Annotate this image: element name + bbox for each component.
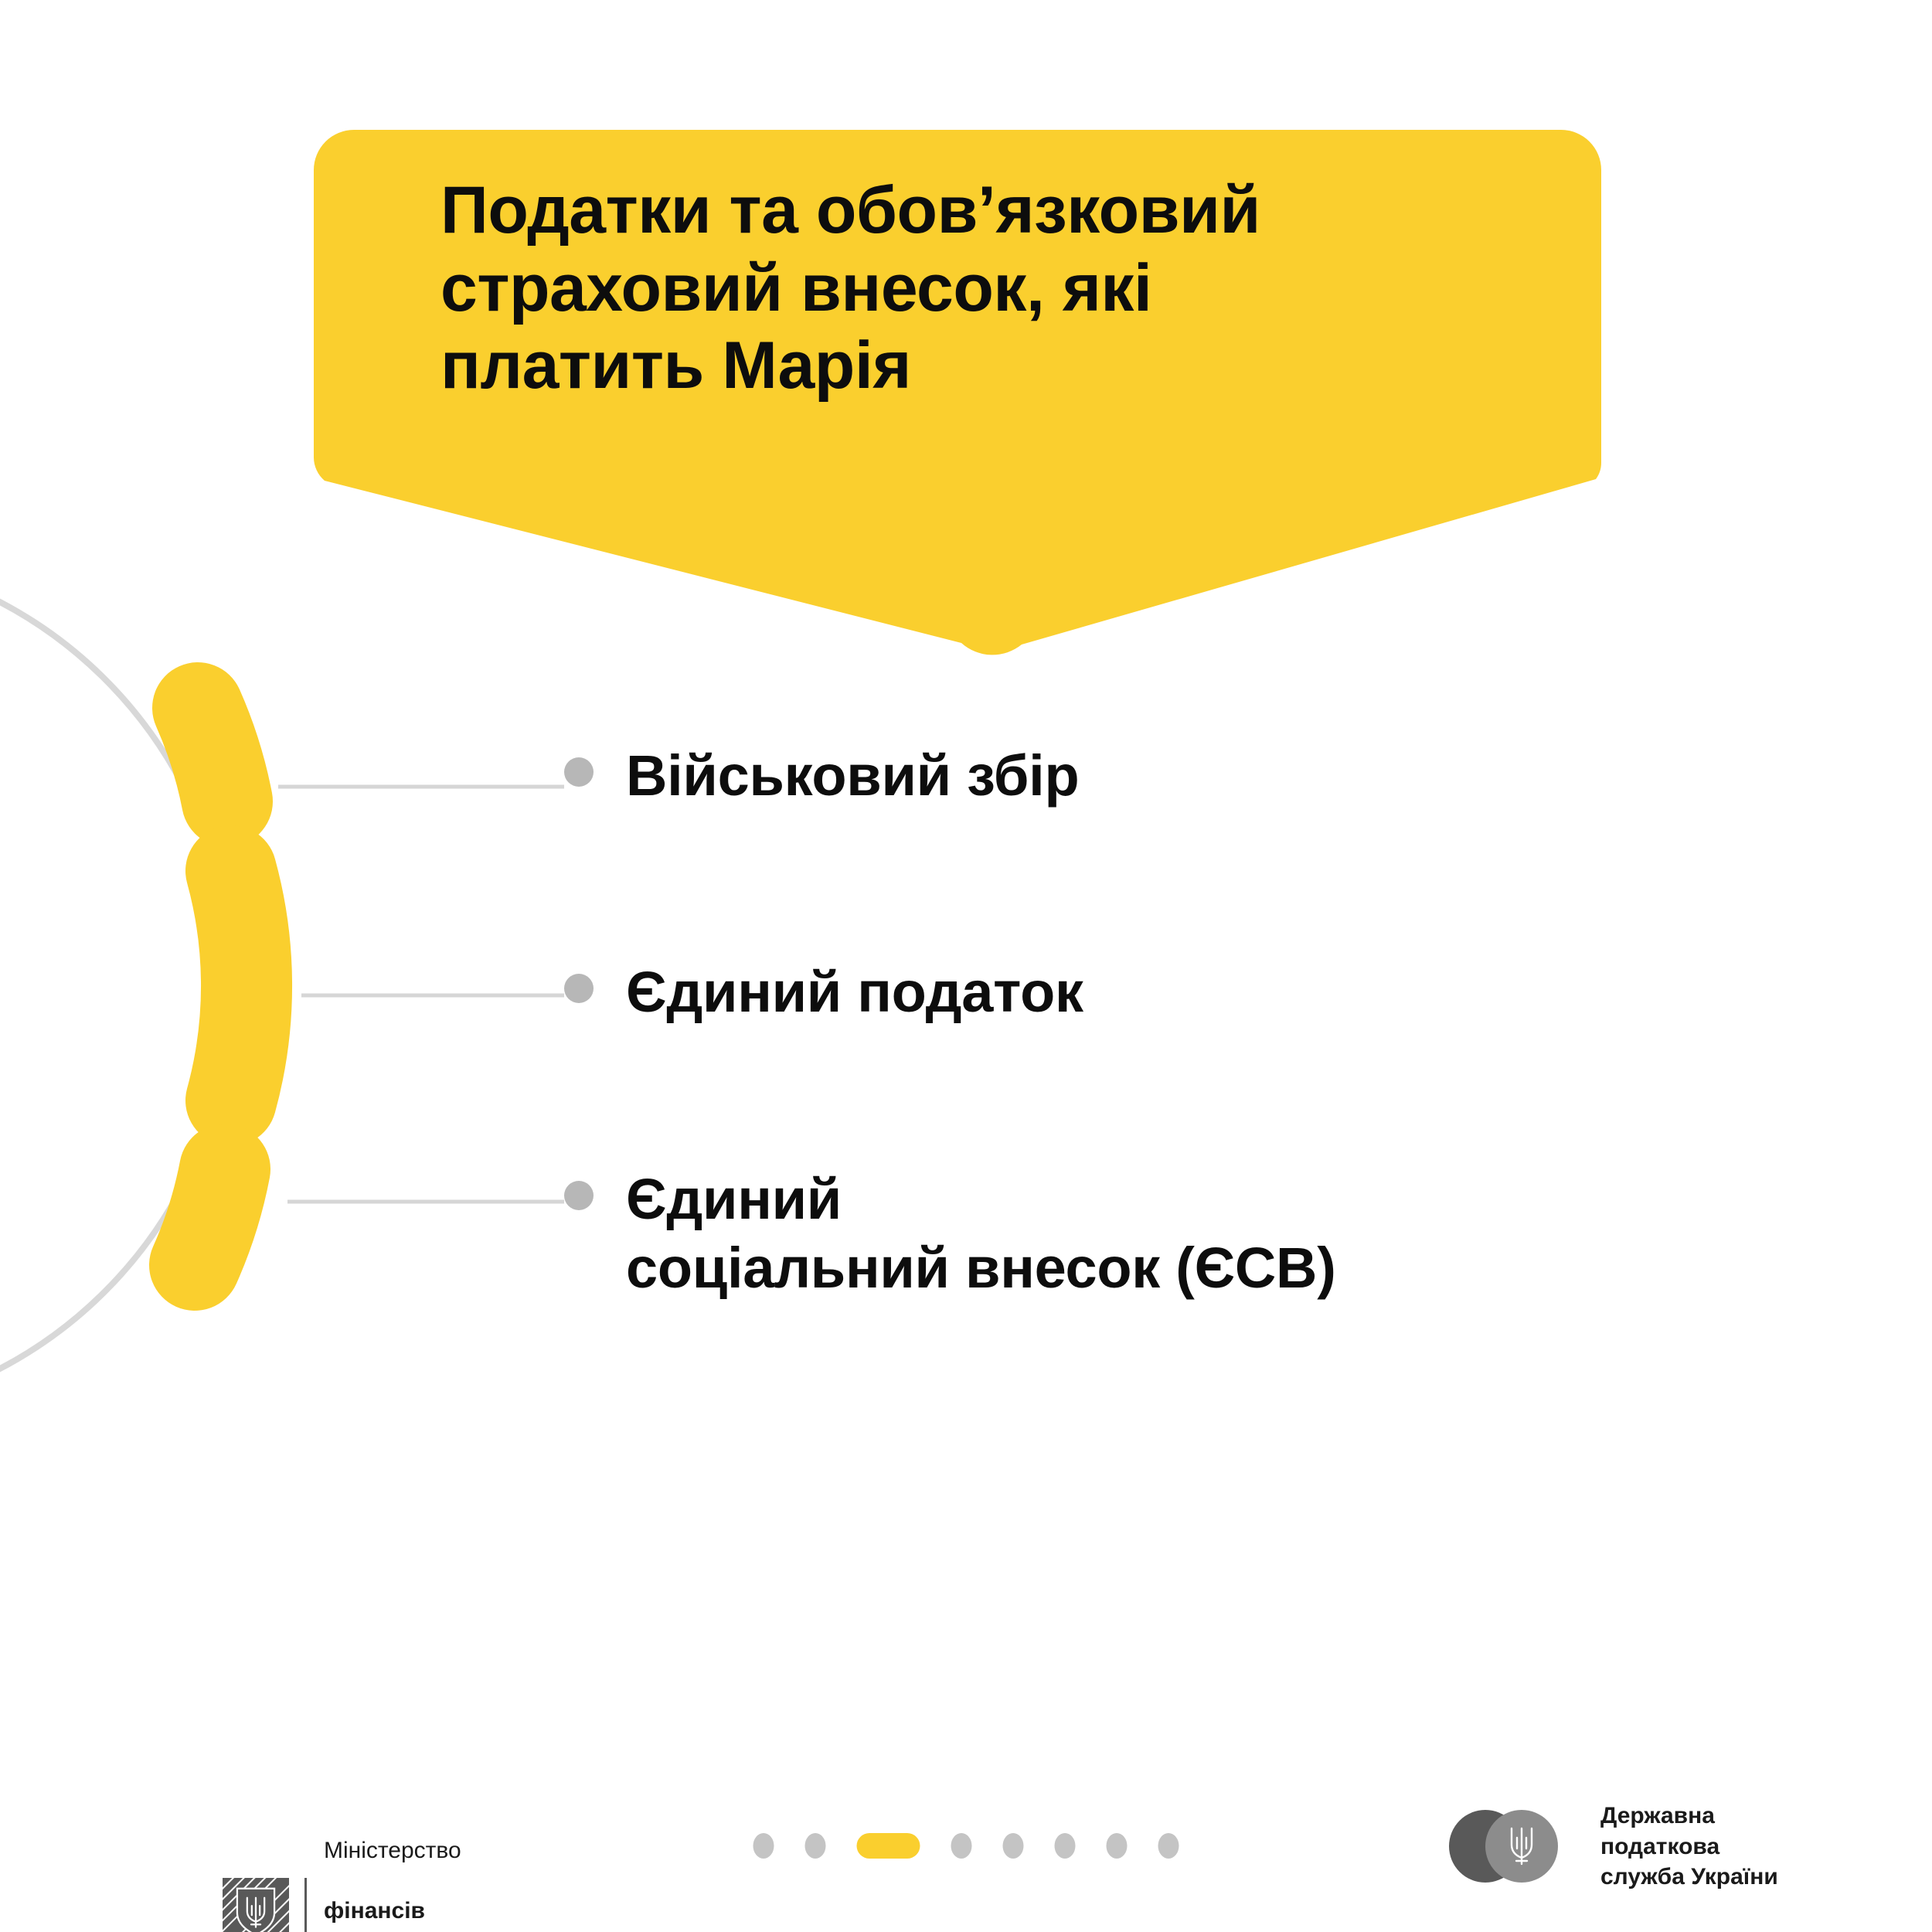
list-item[interactable]: Єдиний податок xyxy=(564,958,1083,1027)
list-item[interactable]: Військовий збір xyxy=(564,742,1079,811)
list-item-label: Єдиний соціальний внесок (ЄСВ) xyxy=(626,1165,1336,1303)
slide-canvas: Податки та обов’язковий страховий внесок… xyxy=(0,0,1932,1932)
pagination-dot-5[interactable] xyxy=(1003,1833,1024,1859)
list-item-label: Єдиний податок xyxy=(626,958,1083,1027)
pagination-dot-3-active[interactable] xyxy=(857,1833,920,1859)
footer: Міністерство фінансів України xyxy=(0,1777,1932,1932)
ukraine-trident-shield-icon xyxy=(223,1878,289,1932)
pagination-dot-6[interactable] xyxy=(1055,1833,1076,1859)
pagination-dot-7[interactable] xyxy=(1107,1833,1128,1859)
bullet-dot-icon xyxy=(564,757,594,787)
ministry-of-finance-logo: Міністерство фінансів України xyxy=(223,1805,461,1932)
ministry-line-2: фінансів xyxy=(324,1896,461,1926)
tax-service-circles-trident-icon xyxy=(1449,1810,1582,1883)
logo-divider xyxy=(304,1878,307,1932)
tax-service-logo: Державна податкова служба України xyxy=(1449,1801,1778,1893)
list-item[interactable]: Єдиний соціальний внесок (ЄСВ) xyxy=(564,1165,1336,1303)
pagination-dot-1[interactable] xyxy=(753,1833,774,1859)
list-item-label: Військовий збір xyxy=(626,742,1079,811)
bullet-dot-icon xyxy=(564,974,594,1003)
bullet-dot-icon xyxy=(564,1181,594,1210)
ministry-of-finance-label: Міністерство фінансів України xyxy=(324,1805,461,1932)
pagination-dot-2[interactable] xyxy=(805,1833,826,1859)
pagination-dot-4[interactable] xyxy=(951,1833,972,1859)
pagination-indicator[interactable] xyxy=(753,1833,1179,1859)
ministry-line-1: Міністерство xyxy=(324,1835,461,1866)
pagination-dot-8[interactable] xyxy=(1158,1833,1179,1859)
page-title: Податки та обов’язковий страховий внесок… xyxy=(440,172,1584,405)
tax-service-label: Державна податкова служба України xyxy=(1600,1801,1778,1893)
